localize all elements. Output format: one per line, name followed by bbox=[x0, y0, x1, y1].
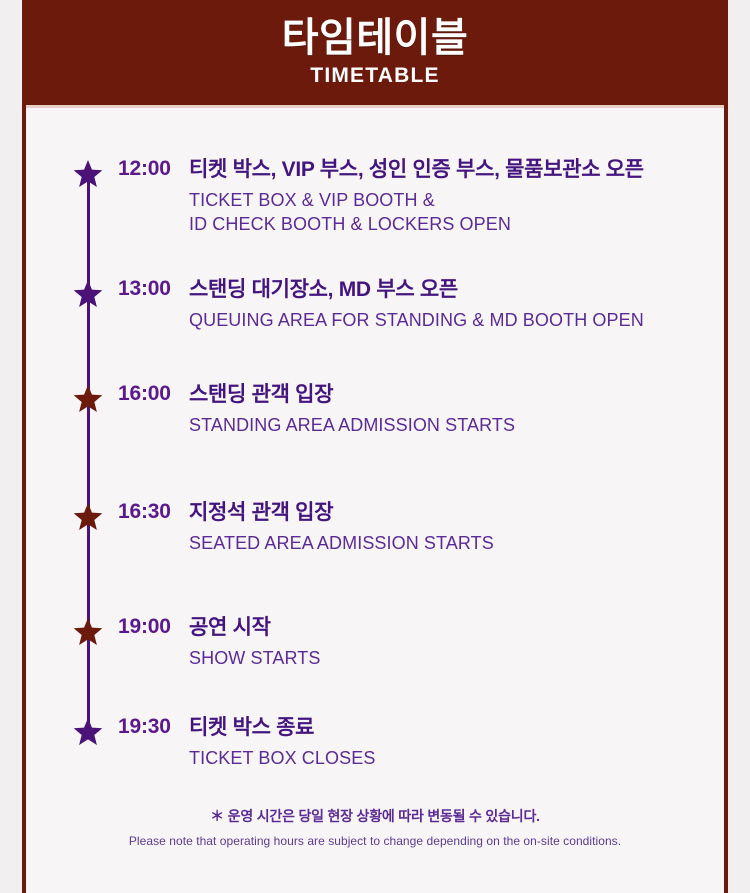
entry-korean-label: 지정석 관객 입장 bbox=[189, 500, 709, 526]
entry-body: 지정석 관객 입장SEATED AREA ADMISSION STARTS bbox=[189, 500, 709, 556]
entry-time: 19:30 bbox=[118, 715, 171, 739]
footer-english-note: Please note that operating hours are sub… bbox=[26, 834, 724, 848]
star-icon-maroon bbox=[73, 384, 103, 413]
entry-body: 공연 시작SHOW STARTS bbox=[189, 615, 709, 671]
entry-body: 티켓 박스 종료TICKET BOX CLOSES bbox=[189, 715, 709, 771]
star-icon-maroon bbox=[73, 502, 103, 531]
footer-notes: ＊ 운영 시간은 당일 현장 상황에 따라 변동될 수 있습니다. Please… bbox=[26, 806, 724, 848]
entry-time: 19:00 bbox=[118, 615, 171, 639]
entry-time: 12:00 bbox=[118, 157, 171, 181]
entry-english-label: SHOW STARTS bbox=[189, 647, 709, 671]
entry-body: 스탠딩 대기장소, MD 부스 오픈QUEUING AREA FOR STAND… bbox=[189, 277, 709, 333]
entry-time: 16:00 bbox=[118, 382, 171, 406]
entry-english-label: SEATED AREA ADMISSION STARTS bbox=[189, 532, 709, 556]
entry-english-label: TICKET BOX CLOSES bbox=[189, 747, 709, 771]
entry-korean-label: 스탠딩 관객 입장 bbox=[189, 382, 709, 408]
star-icon-purple bbox=[73, 159, 103, 188]
header-subtitle: TIMETABLE bbox=[310, 64, 439, 88]
frame-rail-right bbox=[724, 0, 728, 893]
entry-time: 16:30 bbox=[118, 500, 171, 524]
entry-korean-label: 공연 시작 bbox=[189, 615, 709, 641]
entry-korean-label: 티켓 박스, VIP 부스, 성인 인증 부스, 물품보관소 오픈 bbox=[189, 157, 709, 183]
header-underline bbox=[26, 105, 724, 108]
entry-korean-label: 스탠딩 대기장소, MD 부스 오픈 bbox=[189, 277, 709, 303]
entry-english-label: TICKET BOX & VIP BOOTH & ID CHECK BOOTH … bbox=[189, 189, 709, 237]
footer-korean-note: ＊ 운영 시간은 당일 현장 상황에 따라 변동될 수 있습니다. bbox=[26, 806, 724, 826]
timetable-poster: joonggonara 타임테이블 TIMETABLE 12:00티켓 박스, … bbox=[0, 0, 750, 893]
star-icon-maroon bbox=[73, 617, 103, 646]
entry-english-label: QUEUING AREA FOR STANDING & MD BOOTH OPE… bbox=[189, 309, 709, 333]
poster-header: 타임테이블 TIMETABLE bbox=[26, 0, 724, 105]
entry-english-label: STANDING AREA ADMISSION STARTS bbox=[189, 414, 709, 438]
header-title: 타임테이블 bbox=[282, 17, 469, 59]
entry-time: 13:00 bbox=[118, 277, 171, 301]
entry-body: 티켓 박스, VIP 부스, 성인 인증 부스, 물품보관소 오픈TICKET … bbox=[189, 157, 709, 236]
frame-rail-left bbox=[22, 0, 26, 893]
timeline-vertical-line bbox=[87, 172, 90, 735]
entry-body: 스탠딩 관객 입장STANDING AREA ADMISSION STARTS bbox=[189, 382, 709, 438]
entry-korean-label: 티켓 박스 종료 bbox=[189, 715, 709, 741]
star-icon-purple bbox=[73, 279, 103, 308]
star-icon-purple bbox=[73, 717, 103, 746]
